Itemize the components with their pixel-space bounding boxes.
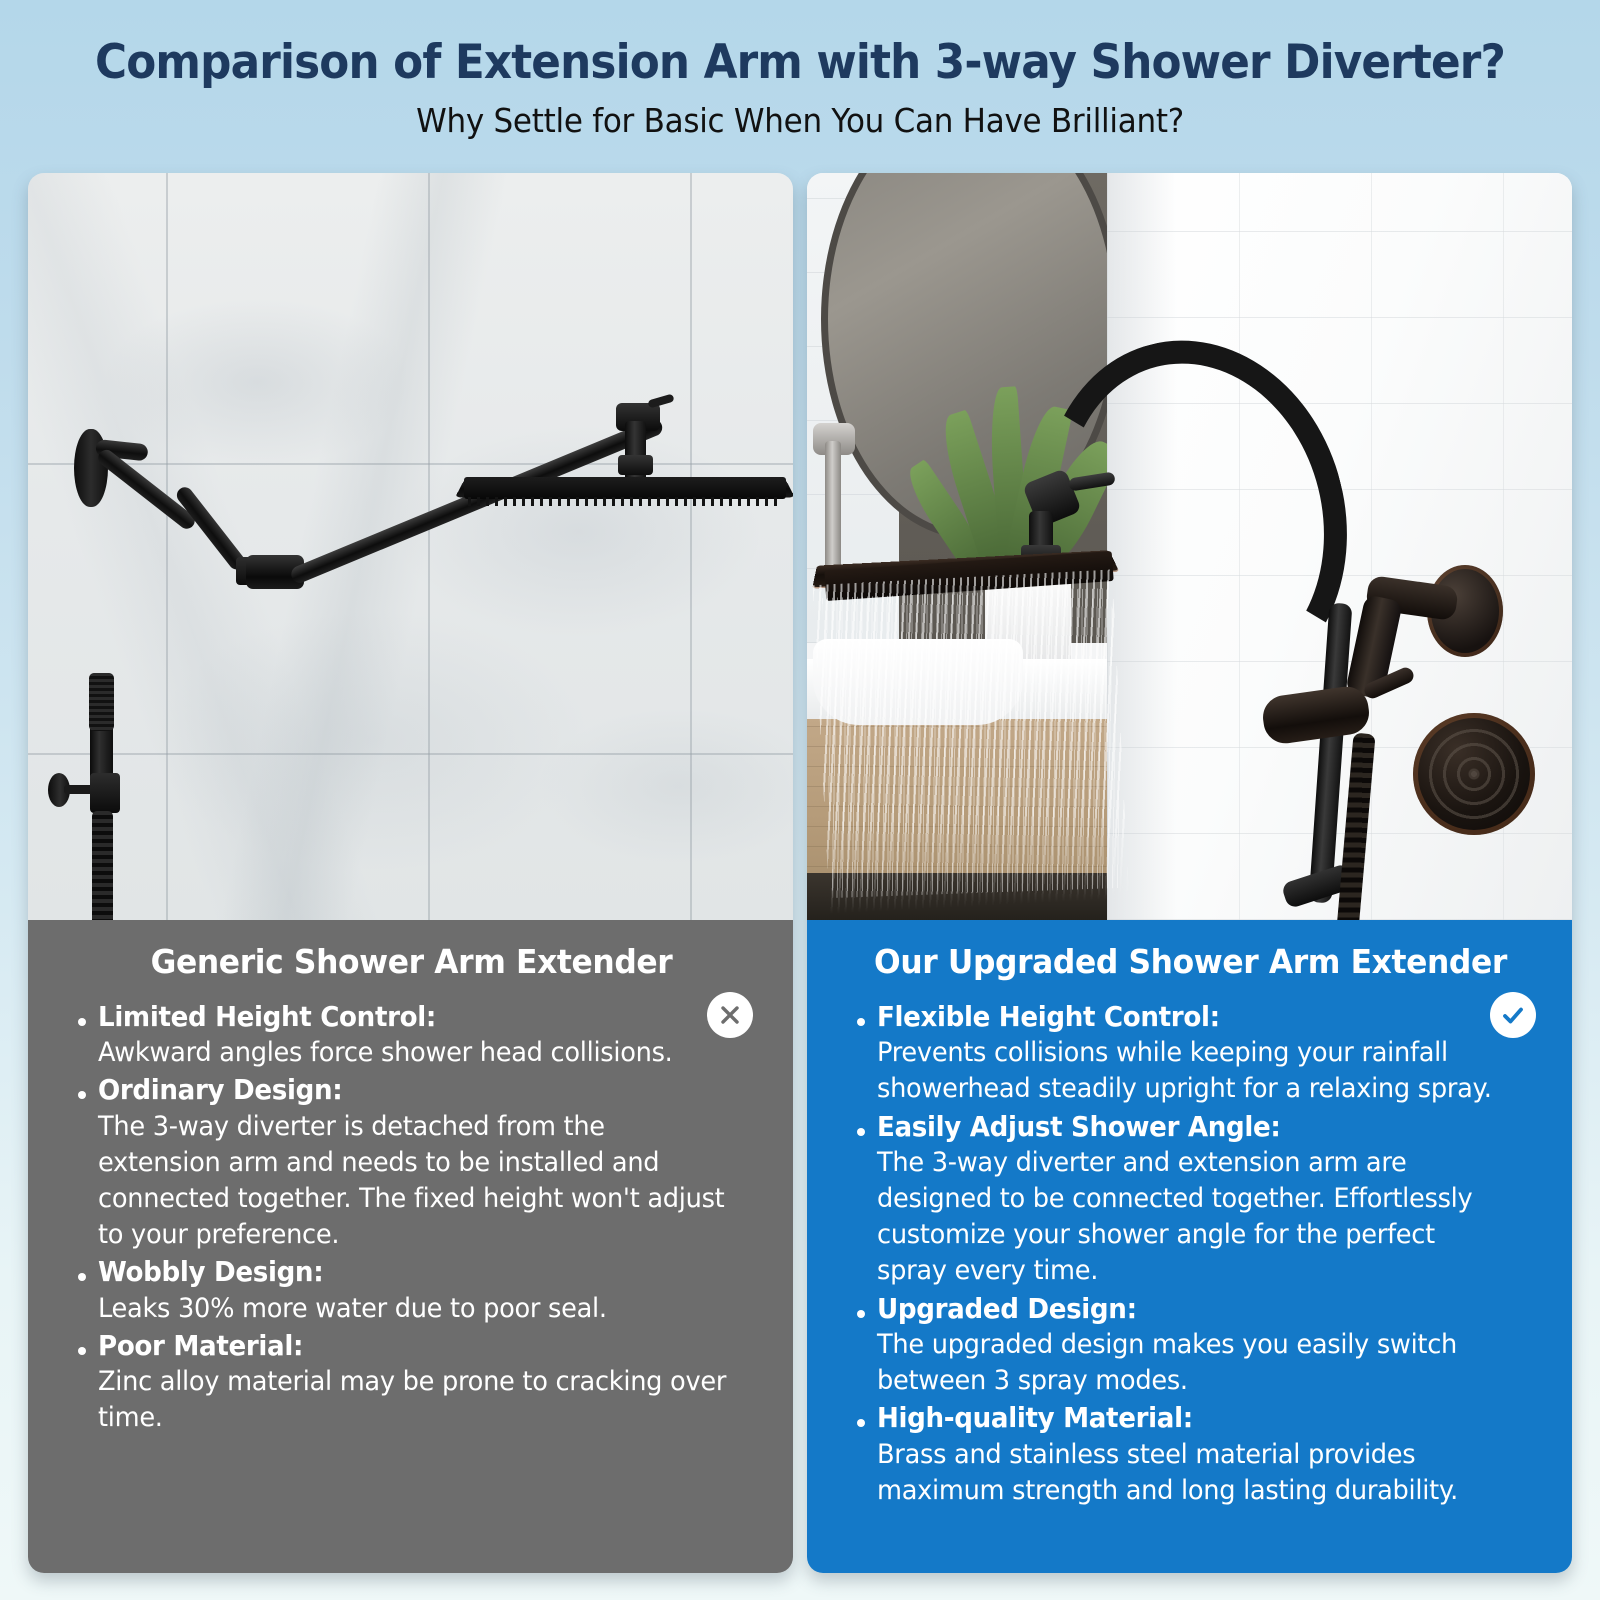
panel-upgraded: Our Upgraded Shower Arm Extender Flexibl… — [807, 173, 1572, 1573]
feature-title: Poor Material: — [98, 1328, 732, 1364]
list-item: Flexible Height Control: Prevents collis… — [851, 999, 1544, 1108]
shower-head-nozzles — [468, 497, 783, 506]
feature-title: Upgraded Design: — [877, 1291, 1511, 1327]
tile-grout-line — [690, 173, 692, 920]
tile-grout-line — [428, 173, 430, 920]
feature-desc: The 3-way diverter and extension arm are… — [877, 1145, 1511, 1290]
feature-desc: The 3-way diverter is detached from the … — [98, 1109, 732, 1254]
marble-tile-wall — [28, 173, 793, 920]
faucet-body — [825, 441, 841, 571]
tile-grout-line — [166, 173, 168, 920]
feature-desc: Zinc alloy material may be prone to crac… — [98, 1364, 732, 1436]
upgraded-product-photo — [807, 173, 1572, 920]
shower-hose — [92, 811, 113, 920]
feature-title: Flexible Height Control: — [877, 999, 1511, 1035]
feature-title: High-quality Material: — [877, 1400, 1511, 1436]
shower-head-face — [464, 477, 786, 499]
page-subtitle: Why Settle for Basic When You Can Have B… — [48, 101, 1552, 140]
handheld-grip — [89, 673, 114, 731]
list-item: High-quality Material: Brass and stainle… — [851, 1400, 1544, 1509]
feature-desc: Brass and stainless steel material provi… — [877, 1437, 1511, 1509]
panel-heading-upgraded: Our Upgraded Shower Arm Extender — [855, 920, 1527, 981]
panel-generic: Generic Shower Arm Extender Limited Heig… — [28, 173, 793, 1573]
feature-desc: Prevents collisions while keeping your r… — [877, 1035, 1511, 1107]
list-item: Limited Height Control: Awkward angles f… — [72, 999, 765, 1071]
list-item: Poor Material: Zinc alloy material may b… — [72, 1328, 765, 1437]
generic-text-block: Generic Shower Arm Extender Limited Heig… — [28, 920, 793, 1573]
list-item: Ordinary Design: The 3-way diverter is d… — [72, 1072, 765, 1253]
panel-heading-generic: Generic Shower Arm Extender — [76, 920, 748, 981]
page-header: Comparison of Extension Arm with 3-way S… — [0, 0, 1600, 140]
handheld-holder — [90, 773, 120, 813]
feature-title: Ordinary Design: — [98, 1072, 732, 1108]
feature-desc: The upgraded design makes you easily swi… — [877, 1327, 1511, 1399]
handheld-nozzle-pattern — [1427, 727, 1521, 821]
generic-feature-list: Limited Height Control: Awkward angles f… — [58, 999, 765, 1437]
drop-collar — [618, 455, 653, 475]
list-item: Upgraded Design: The upgraded design mak… — [851, 1291, 1544, 1400]
generic-product-photo — [28, 173, 793, 920]
upgraded-text-block: Our Upgraded Shower Arm Extender Flexibl… — [807, 920, 1572, 1573]
water-spray-detail — [822, 588, 1122, 898]
tile-grout-line — [28, 463, 793, 465]
list-item: Wobbly Design: Leaks 30% more water due … — [72, 1254, 765, 1326]
list-item: Easily Adjust Shower Angle: The 3-way di… — [851, 1109, 1544, 1290]
feature-desc: Awkward angles force shower head collisi… — [98, 1035, 732, 1071]
page-title: Comparison of Extension Arm with 3-way S… — [56, 38, 1544, 87]
upgraded-feature-list: Flexible Height Control: Prevents collis… — [837, 999, 1544, 1509]
feature-desc: Leaks 30% more water due to poor seal. — [98, 1291, 732, 1327]
feature-title: Limited Height Control: — [98, 999, 732, 1035]
comparison-panels: Generic Shower Arm Extender Limited Heig… — [28, 173, 1572, 1573]
feature-title: Easily Adjust Shower Angle: — [877, 1109, 1511, 1145]
feature-title: Wobbly Design: — [98, 1254, 732, 1290]
tile-grout-line — [28, 753, 793, 755]
